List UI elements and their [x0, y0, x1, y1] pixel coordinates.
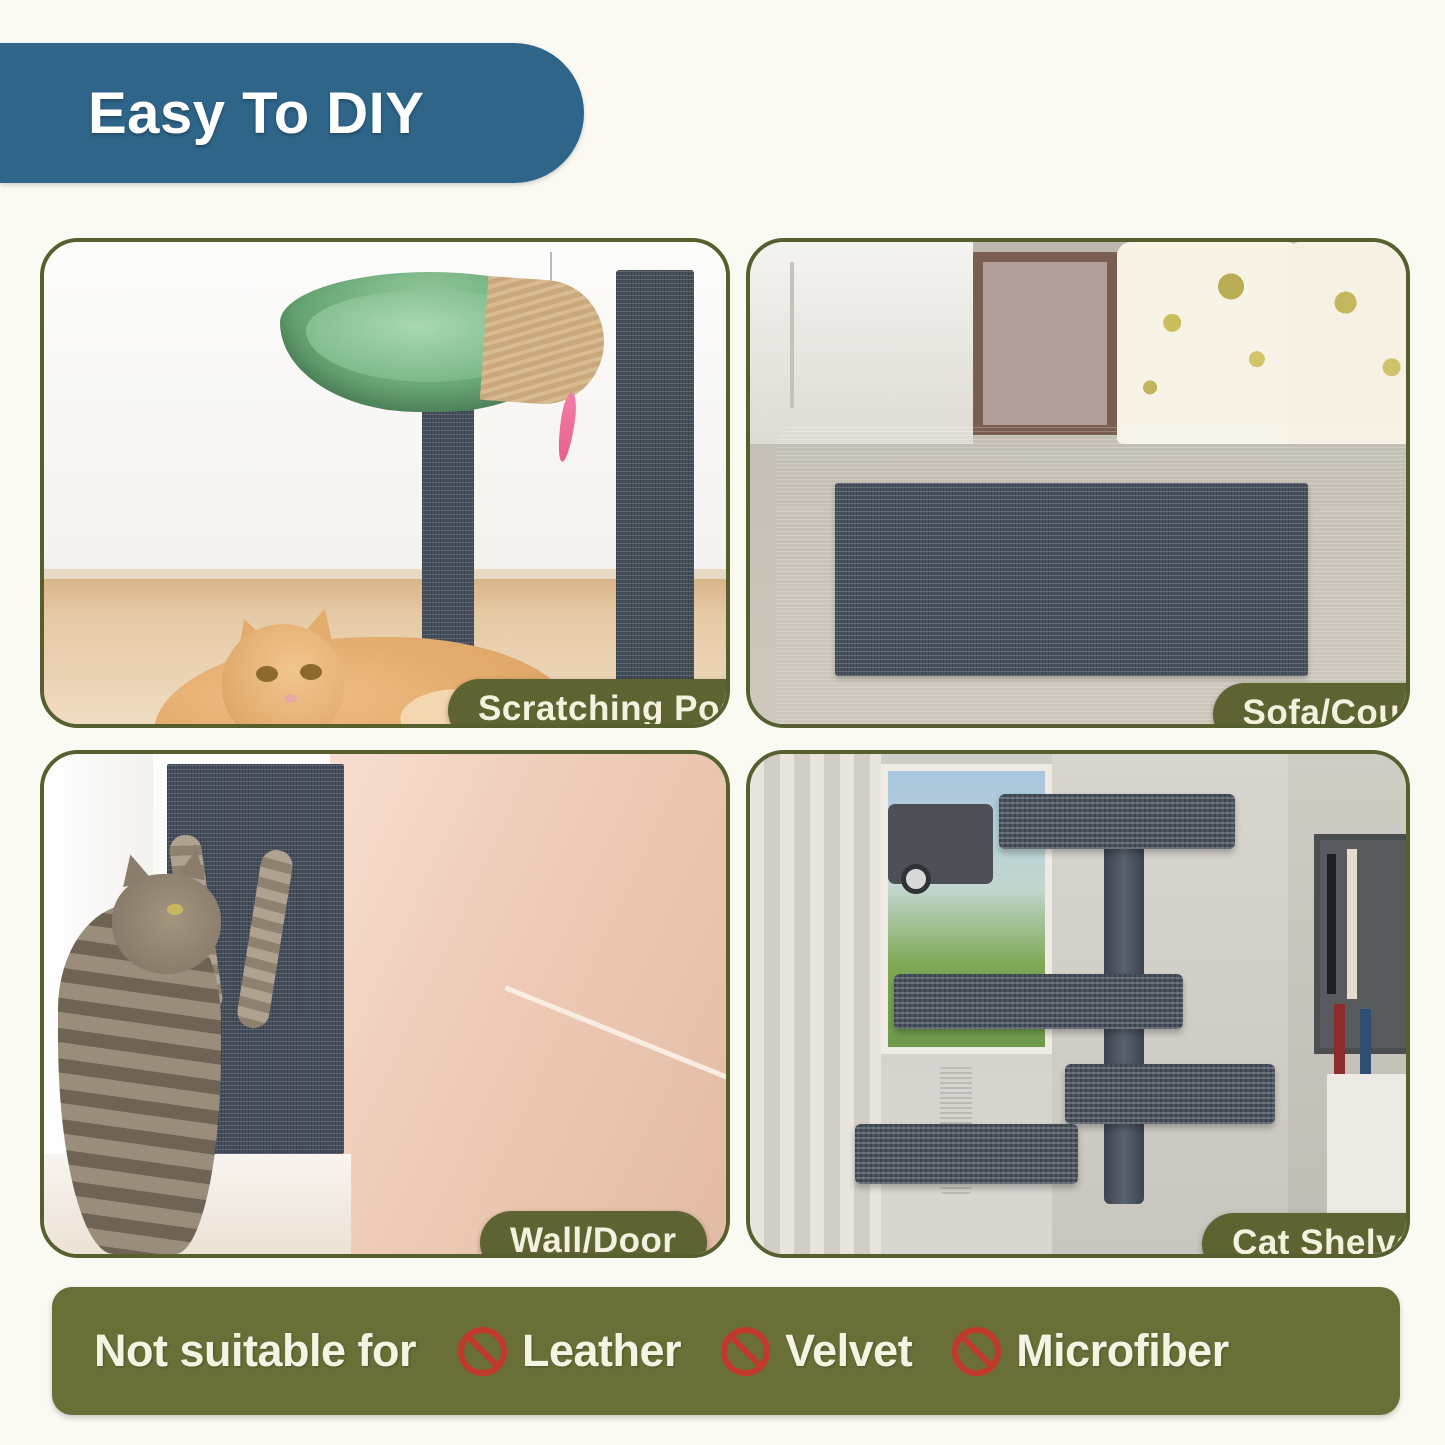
page-title: Easy To DIY [88, 80, 424, 147]
sofa-couch-photo [750, 242, 1406, 724]
warning-item-leather: Leather [458, 1325, 681, 1377]
warning-item-label: Leather [522, 1325, 681, 1377]
book-2 [1347, 849, 1357, 999]
framed-picture [973, 252, 1117, 435]
cat-eye-right [300, 664, 322, 680]
prohibition-icon [952, 1327, 1001, 1376]
warning-item-velvet: Velvet [721, 1325, 912, 1377]
panel-sofa-couch[interactable]: Sofa/Couch [746, 238, 1410, 728]
panel-scratching-post[interactable]: Scratching Post [40, 238, 730, 728]
cat-shelf-top [999, 794, 1235, 849]
cat-eye [167, 904, 183, 915]
book-1 [1327, 854, 1336, 994]
floral-pillow-1 [1117, 242, 1301, 444]
kitchen-doorway [750, 242, 973, 444]
warning-item-label: Velvet [785, 1325, 912, 1377]
panel-wall-door[interactable]: Wall/Door [40, 750, 730, 1258]
wall-door-photo [44, 754, 726, 1254]
not-suitable-warning-bar: Not suitable for Leather Velvet Microfib… [52, 1287, 1400, 1415]
panel-label-wall-door: Wall/Door [480, 1211, 707, 1258]
floral-pillow-2 [1288, 242, 1406, 444]
cat-shelf-middle [1065, 1064, 1275, 1124]
cat-shelf-lower [855, 1124, 1078, 1184]
cat-shelves-photo [750, 754, 1406, 1254]
cat-nose [284, 694, 297, 703]
use-case-panel-grid: Scratching Post Sofa/Couch [40, 238, 1410, 1258]
prohibition-icon [721, 1327, 770, 1376]
warning-item-microfiber: Microfiber [952, 1325, 1229, 1377]
panel-label-cat-shelves: Cat Shelves [1202, 1213, 1410, 1258]
prohibition-icon [458, 1327, 507, 1376]
door-panel [330, 754, 726, 1254]
scratch-mat [835, 483, 1307, 676]
cat-eye-left [256, 666, 278, 682]
panel-cat-shelves[interactable]: Cat Shelves [746, 750, 1410, 1258]
scratching-post-photo [44, 242, 726, 724]
panel-label-sofa-couch: Sofa/Couch [1213, 683, 1410, 728]
header-banner: Easy To DIY [0, 43, 584, 183]
cat-shelf-upper [894, 974, 1183, 1029]
cat-head [112, 874, 221, 974]
warning-label: Not suitable for [94, 1325, 416, 1377]
panel-label-scratching-post: Scratching Post [448, 679, 730, 728]
scratching-post-large [616, 270, 694, 724]
warning-item-label: Microfiber [1016, 1325, 1229, 1377]
car-wheel [901, 864, 931, 894]
